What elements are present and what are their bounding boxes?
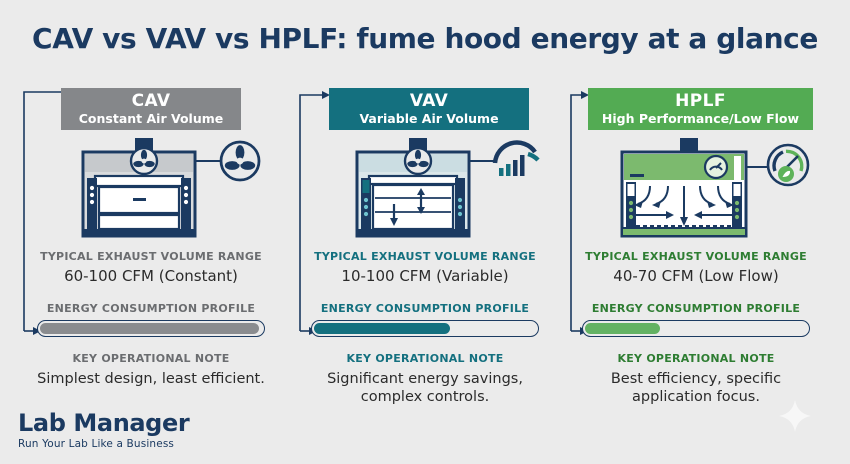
note-block-cav: KEY OPERATIONAL NOTE Simplest design, le… xyxy=(25,352,277,388)
note-caption-hplf: KEY OPERATIONAL NOTE xyxy=(570,352,822,365)
range-caption-cav: TYPICAL EXHAUST VOLUME RANGE xyxy=(25,250,277,263)
energy-bar-fill-vav xyxy=(314,323,450,334)
infographic-canvas: CAV vs VAV vs HPLF: fume hood energy at … xyxy=(0,0,850,464)
range-block-vav: TYPICAL EXHAUST VOLUME RANGE 10-100 CFM … xyxy=(299,250,551,285)
range-caption-vav: TYPICAL EXHAUST VOLUME RANGE xyxy=(299,250,551,263)
energy-caption-hplf: ENERGY CONSUMPTION PROFILE xyxy=(570,302,822,315)
header-fullname-vav: Variable Air Volume xyxy=(359,112,498,125)
energy-caption-vav: ENERGY CONSUMPTION PROFILE xyxy=(299,302,551,315)
note-line-vav-0: Significant energy savings, xyxy=(299,370,551,388)
header-abbr-hplf: HPLF xyxy=(675,93,726,111)
logo-tagline: Run Your Lab Like a Business xyxy=(18,438,189,450)
note-caption-vav: KEY OPERATIONAL NOTE xyxy=(299,352,551,365)
header-badge-cav[interactable]: CAV Constant Air Volume xyxy=(61,88,241,130)
header-abbr-cav: CAV xyxy=(132,93,171,111)
gauge-icon xyxy=(705,156,727,178)
energy-block-cav: ENERGY CONSUMPTION PROFILE xyxy=(25,302,277,315)
energy-bar-fill-cav xyxy=(40,323,259,334)
illustration-vav xyxy=(299,138,551,248)
energy-bar-track-cav xyxy=(37,320,265,337)
column-vav: VAV Variable Air Volume xyxy=(299,80,551,420)
note-line-cav-0: Simplest design, least efficient. xyxy=(25,370,277,388)
column-hplf: HPLF High Performance/Low Flow xyxy=(570,80,822,420)
header-fullname-hplf: High Performance/Low Flow xyxy=(602,112,799,125)
energy-bar-fill-hplf xyxy=(585,323,660,334)
energy-bar-track-hplf xyxy=(582,320,810,337)
range-value-cav: 60-100 CFM (Constant) xyxy=(25,267,277,285)
fan-icon xyxy=(405,148,431,174)
note-line-vav-1: complex controls. xyxy=(299,388,551,406)
range-caption-hplf: TYPICAL EXHAUST VOLUME RANGE xyxy=(570,250,822,263)
exhaust-fan-icon xyxy=(221,142,259,180)
lab-manager-logo[interactable]: Lab Manager Run Your Lab Like a Business xyxy=(18,409,189,450)
energy-bar-track-vav xyxy=(311,320,539,337)
range-value-hplf: 40-70 CFM (Low Flow) xyxy=(570,267,822,285)
note-line-hplf-0: Best efficiency, specific xyxy=(570,370,822,388)
energy-block-hplf: ENERGY CONSUMPTION PROFILE xyxy=(570,302,822,315)
page-title: CAV vs VAV vs HPLF: fume hood energy at … xyxy=(0,22,850,55)
energy-block-vav: ENERGY CONSUMPTION PROFILE xyxy=(299,302,551,315)
range-block-hplf: TYPICAL EXHAUST VOLUME RANGE 40-70 CFM (… xyxy=(570,250,822,285)
range-block-cav: TYPICAL EXHAUST VOLUME RANGE 60-100 CFM … xyxy=(25,250,277,285)
note-block-vav: KEY OPERATIONAL NOTE Significant energy … xyxy=(299,352,551,406)
column-cav: CAV Constant Air Volume xyxy=(25,80,277,420)
note-caption-cav: KEY OPERATIONAL NOTE xyxy=(25,352,277,365)
range-value-vav: 10-100 CFM (Variable) xyxy=(299,267,551,285)
bar-chart-gauge-icon xyxy=(495,143,538,176)
header-badge-hplf[interactable]: HPLF High Performance/Low Flow xyxy=(588,88,813,130)
illustration-cav xyxy=(25,138,277,248)
sparkle-icon xyxy=(778,399,812,438)
illustration-hplf xyxy=(570,138,822,248)
header-badge-vav[interactable]: VAV Variable Air Volume xyxy=(329,88,529,130)
logo-wordmark: Lab Manager xyxy=(18,409,189,437)
fan-icon xyxy=(131,148,157,174)
header-abbr-vav: VAV xyxy=(410,93,448,111)
energy-caption-cav: ENERGY CONSUMPTION PROFILE xyxy=(25,302,277,315)
eco-leaf-gauge-icon xyxy=(768,145,808,185)
header-fullname-cav: Constant Air Volume xyxy=(79,112,223,125)
